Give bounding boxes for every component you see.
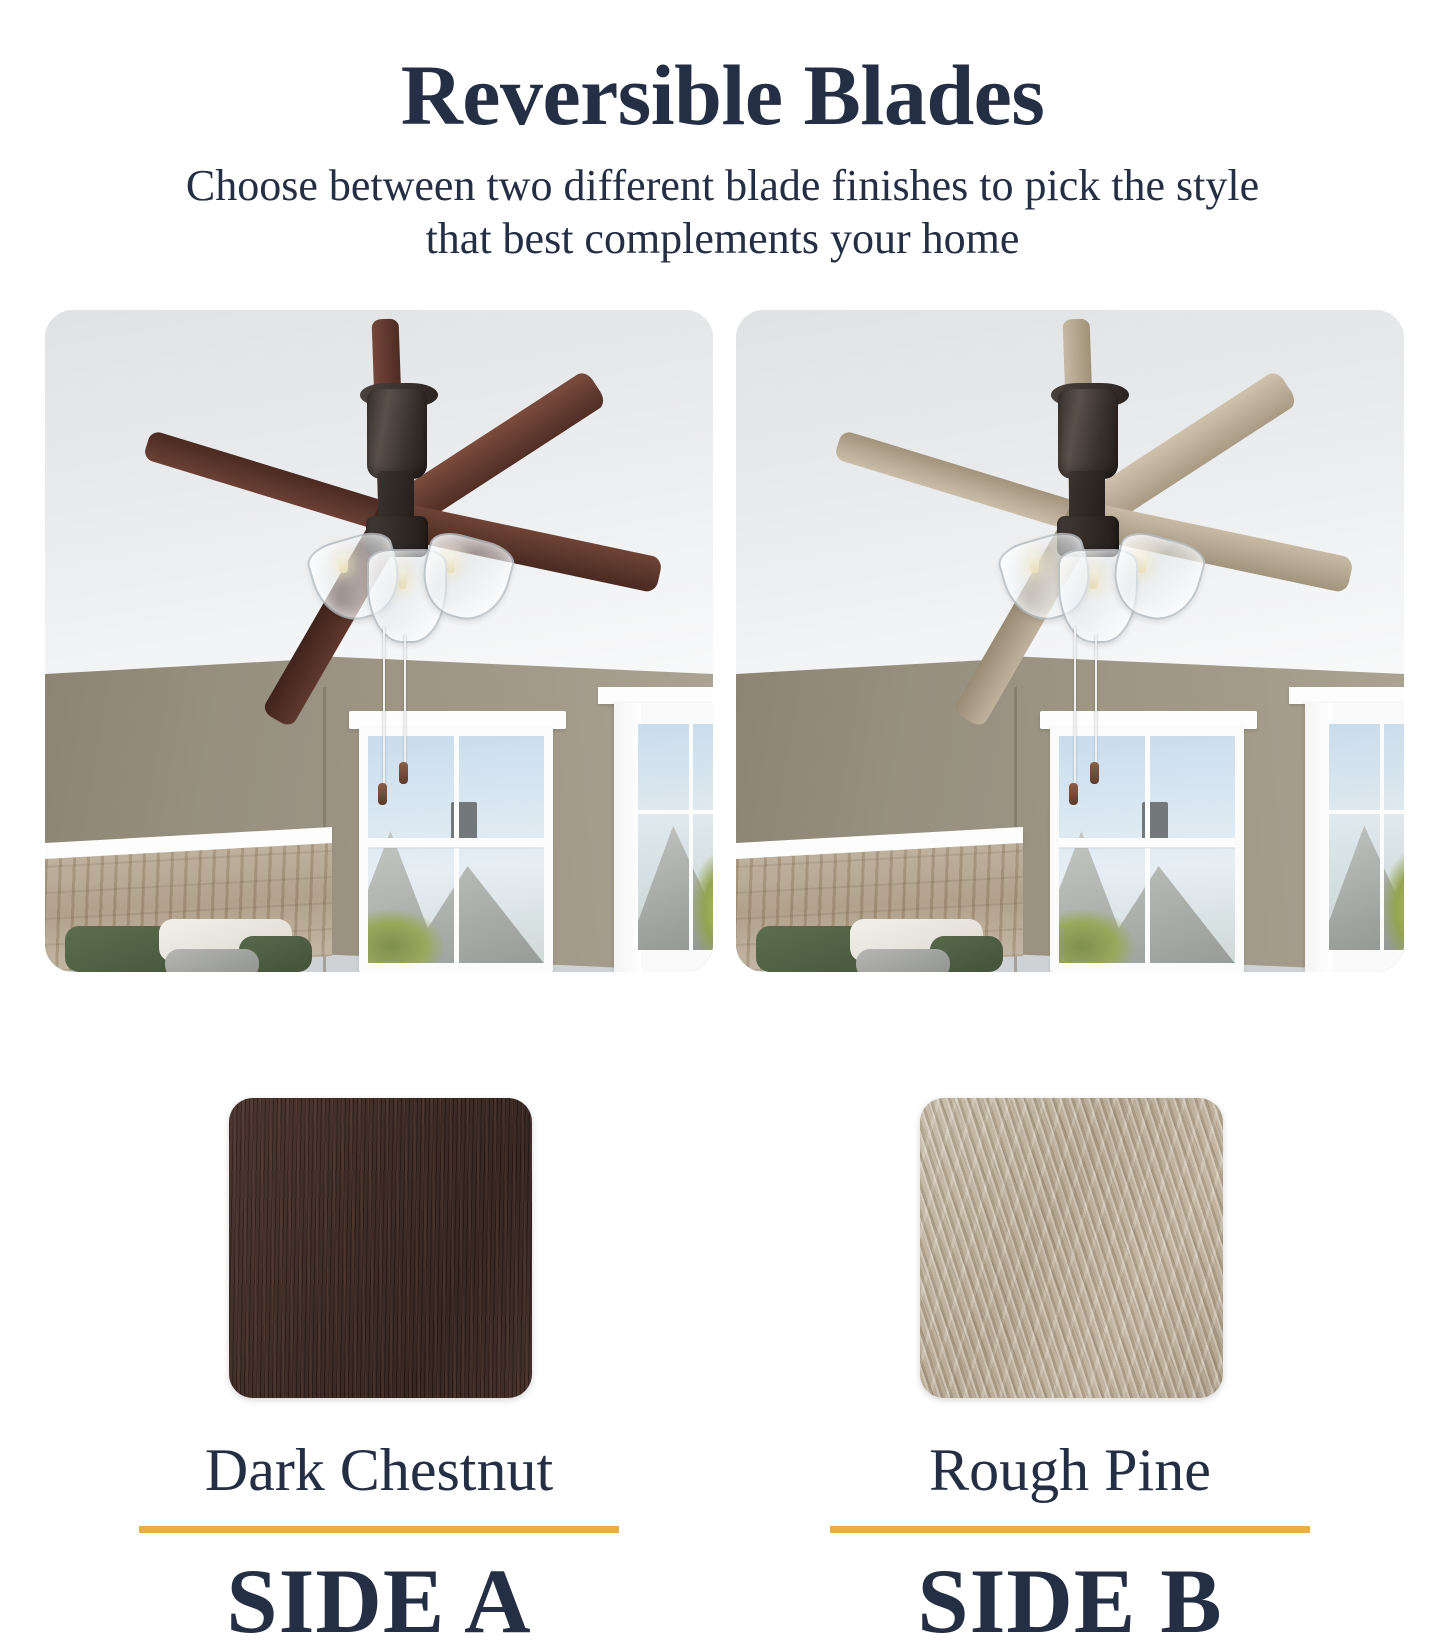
door-jamb [1305, 703, 1332, 972]
caption-side-a: Dark Chestnut SIDE A [45, 1440, 713, 1647]
fan-motor-housing [1058, 389, 1118, 479]
pull-chain-finial[interactable] [1069, 783, 1078, 805]
window-sash [1059, 838, 1235, 847]
door-mullion-vertical [689, 724, 693, 950]
finish-swatch-rough-pine[interactable] [920, 1098, 1223, 1398]
pull-chain-finial[interactable] [1090, 762, 1099, 784]
window-sash [368, 838, 544, 847]
window-frame [359, 727, 553, 971]
fan-blade [833, 430, 1093, 535]
window-glass [368, 736, 544, 962]
door-body [1305, 703, 1404, 972]
window-glass [1059, 736, 1235, 962]
pull-chain[interactable] [1095, 635, 1097, 775]
ceiling-fan-rough-pine [816, 323, 1337, 733]
pull-chain-finial[interactable] [399, 762, 408, 784]
fan-blade [142, 430, 402, 535]
gold-accent-rule [139, 1526, 619, 1533]
outdoor-foliage [368, 909, 445, 963]
caption-side-b: Rough Pine SIDE B [736, 1440, 1404, 1647]
finish-swatch-dark-chestnut[interactable] [229, 1098, 532, 1398]
window [359, 711, 553, 972]
side-label: SIDE A [45, 1555, 713, 1647]
side-label: SIDE B [736, 1555, 1404, 1647]
pull-chain[interactable] [383, 627, 385, 791]
window [1050, 711, 1244, 972]
page-title: Reversible Blades [0, 0, 1445, 138]
ceiling-fan-dark-chestnut [125, 323, 646, 733]
door-body [614, 703, 713, 972]
pull-chain-finial[interactable] [378, 783, 387, 805]
pillow-gray [856, 949, 950, 972]
finish-option-a: Dark Chestnut SIDE A [45, 310, 713, 1410]
gold-accent-rule [830, 1526, 1310, 1533]
finish-name: Dark Chestnut [45, 1440, 713, 1500]
outdoor-foliage [1059, 909, 1136, 963]
finish-option-b: Rough Pine SIDE B [736, 310, 1404, 1410]
page-subtitle: Choose between two different blade finis… [158, 138, 1288, 266]
accent-rule-wrap [139, 1526, 619, 1533]
header: Reversible Blades Choose between two dif… [0, 0, 1445, 266]
door-jamb [614, 703, 641, 972]
room-photo-side-a [45, 310, 713, 972]
window-frame [1050, 727, 1244, 971]
door-glass [1329, 724, 1404, 950]
fan-motor-housing [367, 389, 427, 479]
door-glass [638, 724, 713, 950]
room-photo-side-b [736, 310, 1404, 972]
accent-rule-wrap [830, 1526, 1310, 1533]
finish-name: Rough Pine [736, 1440, 1404, 1500]
pull-chain[interactable] [1074, 627, 1076, 791]
pull-chain[interactable] [404, 635, 406, 775]
door-mullion-horizontal [638, 810, 713, 814]
pillow-gray [165, 949, 259, 972]
finish-comparison: Dark Chestnut SIDE A [0, 310, 1445, 1410]
window-mullion-vertical [1145, 736, 1150, 962]
window-mullion-vertical [454, 736, 459, 962]
product-feature-page: Reversible Blades Choose between two dif… [0, 0, 1445, 1445]
door-mullion-horizontal [1329, 810, 1404, 814]
door-mullion-vertical [1380, 724, 1384, 950]
